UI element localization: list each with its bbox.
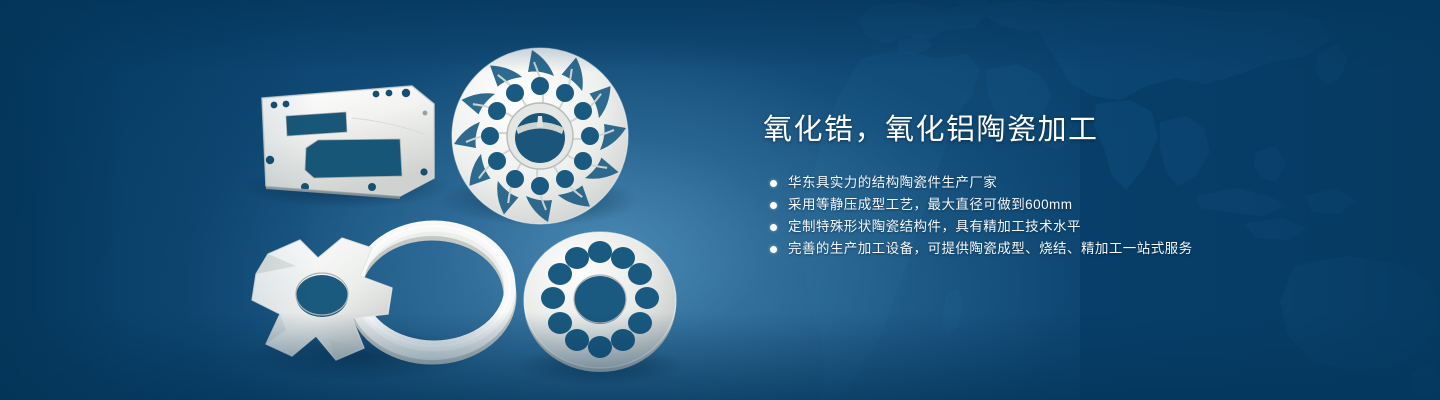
list-item: 完善的生产加工设备，可提供陶瓷成型、烧结、精加工一站式服务 bbox=[763, 238, 1383, 260]
bullet-dot-icon bbox=[770, 180, 777, 187]
ceramic-impeller-disc bbox=[452, 48, 628, 224]
list-item-label: 完善的生产加工设备，可提供陶瓷成型、烧结、精加工一站式服务 bbox=[788, 241, 1193, 256]
ceramic-machined-plate bbox=[262, 86, 434, 199]
page-title: 氧化锆，氧化铝陶瓷加工 bbox=[763, 110, 1383, 150]
bullet-dot-icon bbox=[770, 202, 777, 209]
bullet-dot-icon bbox=[770, 224, 777, 231]
list-item-label: 华东具实力的结构陶瓷件生产厂家 bbox=[788, 175, 997, 190]
bullet-dot-icon bbox=[770, 246, 777, 253]
ceramic-perforated-disc bbox=[524, 232, 676, 372]
feature-list: 华东具实力的结构陶瓷件生产厂家 采用等静压成型工艺，最大直径可做到600mm 定… bbox=[763, 172, 1383, 260]
list-item-label: 定制特殊形状陶瓷结构件，具有精加工技术水平 bbox=[788, 219, 1081, 234]
ceramic-products-photo bbox=[0, 0, 740, 400]
ceramic-processing-banner: 氧化锆，氧化铝陶瓷加工 华东具实力的结构陶瓷件生产厂家 采用等静压成型工艺，最大… bbox=[0, 0, 1440, 400]
list-item-label: 采用等静压成型工艺，最大直径可做到600mm bbox=[788, 197, 1072, 212]
list-item: 华东具实力的结构陶瓷件生产厂家 bbox=[763, 172, 1383, 194]
list-item: 采用等静压成型工艺，最大直径可做到600mm bbox=[763, 194, 1383, 216]
banner-copy: 氧化锆，氧化铝陶瓷加工 华东具实力的结构陶瓷件生产厂家 采用等静压成型工艺，最大… bbox=[763, 110, 1383, 260]
list-item: 定制特殊形状陶瓷结构件，具有精加工技术水平 bbox=[763, 216, 1383, 238]
